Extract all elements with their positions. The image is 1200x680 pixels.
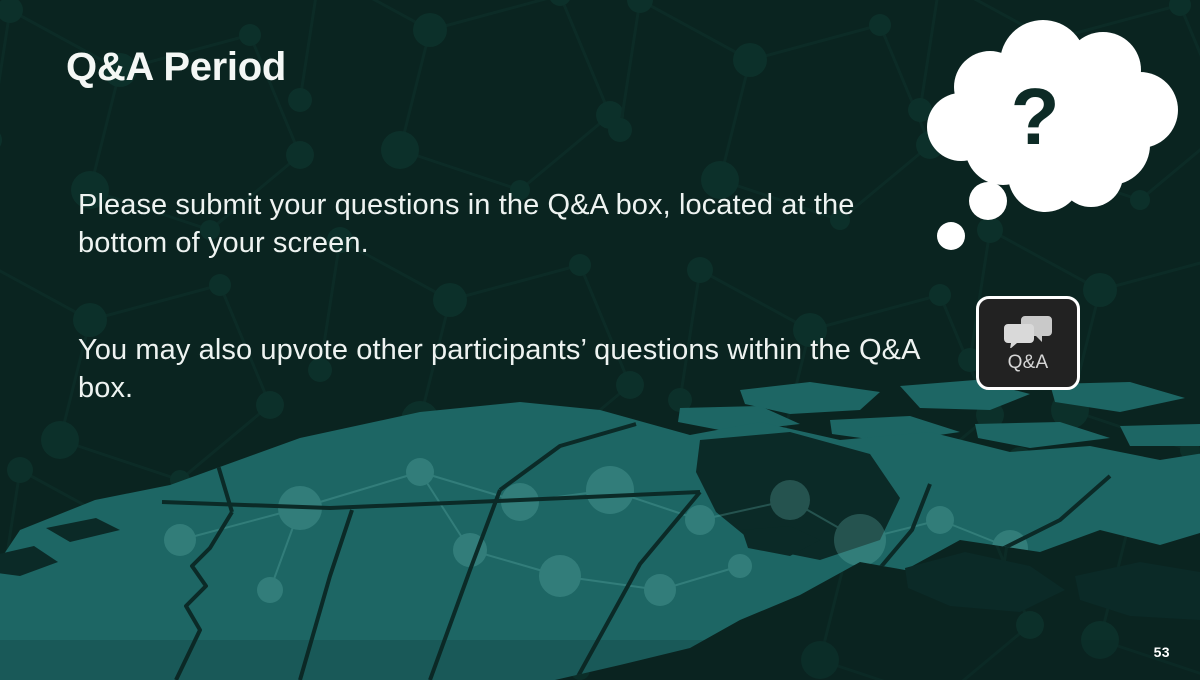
question-mark-glyph: ? xyxy=(1011,72,1060,161)
cloud-trail-bubbles xyxy=(937,182,1007,250)
qa-toolbar-button[interactable]: Q&A xyxy=(976,296,1080,390)
slide-page-number: 53 xyxy=(1154,644,1170,660)
slide-canvas: Q&A Period Please submit your questions … xyxy=(0,0,1200,680)
instruction-paragraph-submit: Please submit your questions in the Q&A … xyxy=(78,186,938,263)
canada-map-graphic xyxy=(0,380,1200,680)
page-title: Q&A Period xyxy=(66,45,286,89)
qa-button-label: Q&A xyxy=(1008,353,1049,372)
speech-bubbles-icon xyxy=(1003,314,1053,348)
thought-cloud-icon: ? xyxy=(915,15,1185,265)
instruction-paragraph-upvote: You may also upvote other participants’ … xyxy=(78,331,938,408)
